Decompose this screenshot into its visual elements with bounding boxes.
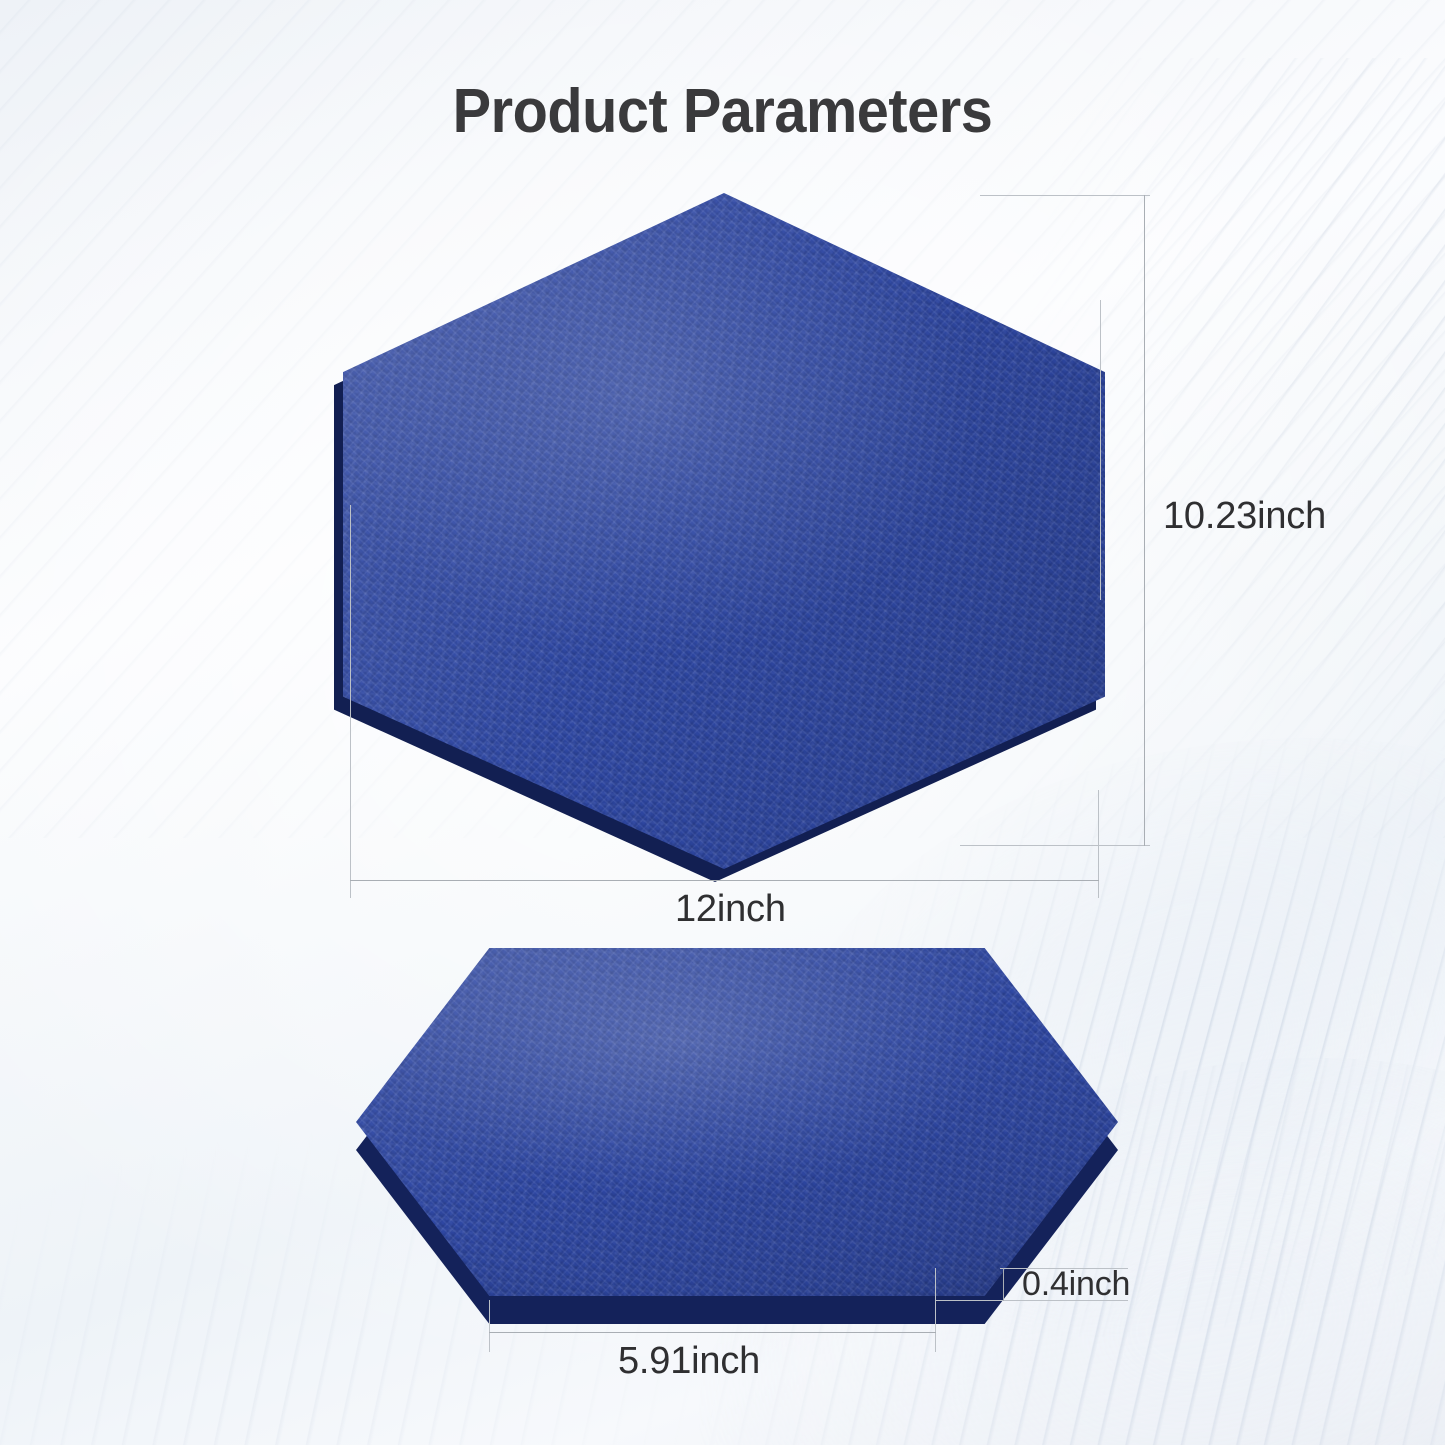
dimension-label-thickness: 0.4inch (1022, 1265, 1130, 1304)
dimension-line-thickness (1003, 1268, 1004, 1301)
extension-line-edge-right (935, 1268, 936, 1352)
extension-line-bottom-right (960, 845, 1150, 846)
page-title: Product Parameters (51, 76, 1395, 147)
dimension-label-width: 12inch (675, 888, 786, 931)
front-view-hexagon (343, 193, 1105, 869)
dimension-line-height (1144, 195, 1145, 846)
product-parameters-image: Product Parameters 10.23inch 12inch 0.4i (0, 0, 1445, 1445)
dimension-line-width (350, 880, 1099, 881)
extension-line-edge-left (489, 1300, 490, 1352)
perspective-view-hexagon (356, 948, 1118, 1296)
perspective-hexagon-bevel-rim (356, 948, 1118, 1296)
dimension-line-edge-length (489, 1332, 936, 1333)
dimension-label-height: 10.23inch (1163, 495, 1326, 538)
front-hexagon-bevel-rim (343, 193, 1105, 869)
extension-line-right-width (1098, 790, 1099, 898)
front-hexagon-face (343, 193, 1105, 869)
extension-line-right-vertex (1100, 300, 1101, 600)
extension-line-top (980, 195, 1150, 196)
perspective-hexagon-face (356, 948, 1118, 1296)
dimension-label-edge-length: 5.91inch (618, 1340, 760, 1383)
extension-line-left-vertex (350, 505, 351, 898)
